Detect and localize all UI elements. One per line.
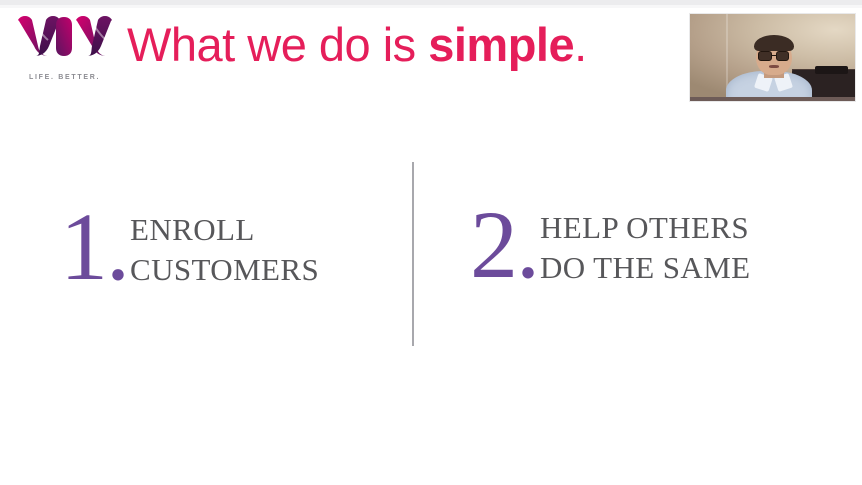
presentation-slide: LIFE. BETTER. What we do is simple. 1. E…: [0, 0, 862, 485]
video-bottom-edge: [690, 97, 855, 101]
headline-regular-part: What we do is: [127, 18, 428, 71]
step-1-label-line-1: ENROLL: [130, 210, 319, 250]
step-1-label: ENROLL CUSTOMERS: [130, 210, 319, 289]
step-item-1: 1. ENROLL CUSTOMERS: [60, 206, 319, 289]
step-1-number: 1.: [60, 208, 128, 287]
video-monitor: [815, 66, 848, 74]
eyeglasses-left-lens-icon: [758, 51, 771, 61]
vertical-divider: [412, 162, 414, 346]
step-2-label: HELP OTHERS DO THE SAME: [540, 208, 751, 287]
step-1-label-line-2: CUSTOMERS: [130, 250, 319, 290]
slide-frame-top-band-secondary: [0, 5, 862, 8]
viv-logo: LIFE. BETTER.: [16, 16, 112, 74]
presenter-video-overlay[interactable]: [690, 14, 855, 101]
headline-period: .: [574, 18, 587, 71]
viv-wordmark-icon: [16, 16, 112, 56]
video-presenter-hair: [754, 35, 794, 51]
step-2-number: 2.: [470, 206, 538, 285]
logo-tagline: LIFE. BETTER.: [29, 74, 109, 81]
step-2-label-line-2: DO THE SAME: [540, 248, 751, 288]
headline-bold-part: simple: [428, 18, 574, 71]
eyeglasses-right-lens-icon: [776, 51, 789, 61]
slide-headline: What we do is simple.: [127, 18, 587, 72]
video-presenter-mouth: [769, 65, 779, 68]
step-2-label-line-1: HELP OTHERS: [540, 208, 751, 248]
eyeglasses-bridge-icon: [772, 55, 776, 57]
step-item-2: 2. HELP OTHERS DO THE SAME: [470, 204, 751, 287]
